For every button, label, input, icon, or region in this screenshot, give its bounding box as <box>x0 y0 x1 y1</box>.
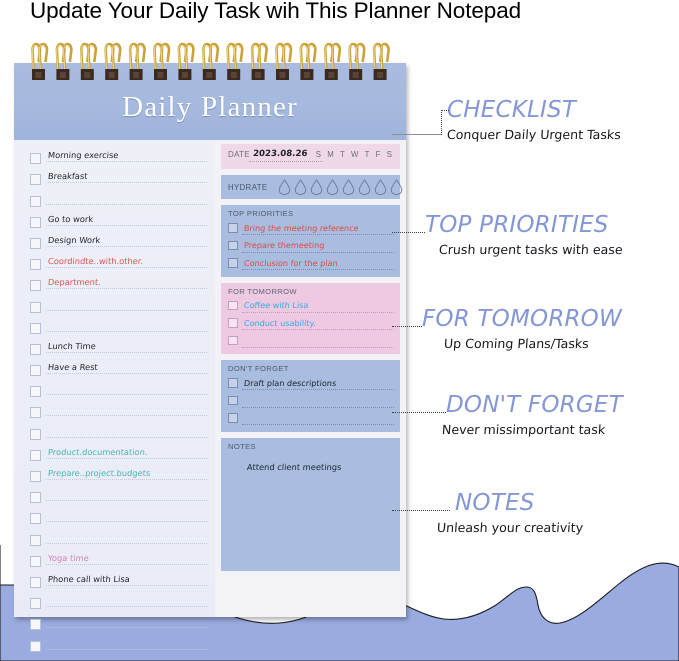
checklist-row-label[interactable]: Phone call with Lisa <box>48 574 131 584</box>
spiral-coil-icon <box>178 44 193 80</box>
checklist-checkbox[interactable] <box>30 450 41 461</box>
leader-line-dont-forget <box>392 412 446 413</box>
annotation-subtitle: Up Coming Plans/Tasks <box>443 336 622 351</box>
water-drop-icon[interactable] <box>326 179 339 195</box>
checklist-column: Morning exerciseBreakfastGo to workDesig… <box>14 140 215 617</box>
leader-line-top-priorities <box>392 232 425 233</box>
checklist-rule <box>46 373 207 374</box>
task-rule <box>242 424 394 425</box>
checklist-row[interactable]: Go to work <box>14 207 215 228</box>
spiral-coil-icon <box>56 44 71 80</box>
checklist-row[interactable]: Prepare..project.budgets <box>14 461 215 482</box>
annotation-title: FOR TOMORROW <box>422 306 622 332</box>
sections-column: DATE 2023.08.26 S M T W T F S HYDRATE TO… <box>215 140 406 617</box>
checklist-rule <box>46 437 207 438</box>
annotation-title: CHECKLIST <box>447 97 621 123</box>
spiral-coil-icon <box>252 44 267 80</box>
checklist-row-label[interactable]: Prepare..project.budgets <box>48 468 151 478</box>
water-drop-icon[interactable] <box>342 179 355 195</box>
poster-canvas: Update Your Daily Task wih This Planner … <box>0 0 679 661</box>
leader-line-for-tomorrow <box>392 326 422 327</box>
task-label[interactable]: Conclusion for the plan <box>244 258 338 268</box>
task-row[interactable]: Conclusion for the plan <box>221 255 400 273</box>
planner-header-title: Daily Planner <box>14 91 406 124</box>
task-rule <box>242 312 394 313</box>
task-row[interactable] <box>221 333 400 351</box>
checklist-checkbox[interactable] <box>30 302 41 313</box>
checklist-checkbox[interactable] <box>30 407 41 418</box>
water-drop-icon[interactable] <box>278 179 291 195</box>
checklist-checkbox[interactable] <box>30 619 41 630</box>
checklist-row[interactable]: Department. <box>14 270 215 291</box>
spiral-coil-icon <box>81 44 96 80</box>
date-label: DATE <box>228 150 250 159</box>
task-checkbox[interactable] <box>228 396 238 406</box>
checklist-checkbox[interactable] <box>30 280 41 291</box>
checklist-rule <box>46 500 207 501</box>
hydrate-section: HYDRATE <box>221 175 400 199</box>
checklist-row[interactable] <box>14 313 215 334</box>
checklist-rule <box>46 267 207 268</box>
checklist-checkbox[interactable] <box>30 577 41 588</box>
annotation-title: NOTES <box>455 490 583 516</box>
checklist-checkbox[interactable] <box>30 429 41 440</box>
checklist-rule <box>46 204 207 205</box>
annotation-subtitle: Crush urgent tasks with ease <box>438 242 623 257</box>
task-label[interactable]: Coffee with Lisa <box>244 300 309 310</box>
annotation-subtitle: Never missimportant task <box>441 422 623 437</box>
checklist-row-label[interactable]: Yoga time <box>48 553 89 563</box>
task-label[interactable]: Bring the meeting reference <box>244 223 359 233</box>
checklist-rule <box>46 627 207 628</box>
annotation-subtitle: Conquer Daily Urgent Tasks <box>446 127 621 142</box>
task-checkbox[interactable] <box>228 413 238 423</box>
checklist-row-label[interactable]: Design Work <box>48 235 101 245</box>
task-row[interactable]: Bring the meeting reference <box>221 220 400 238</box>
leader-line-checklist-vertical <box>441 110 442 135</box>
checklist-row-label[interactable]: Coordindte..with.other. <box>48 256 144 266</box>
task-row[interactable]: Prepare themeeting <box>221 238 400 256</box>
spiral-coil-icon <box>105 44 120 80</box>
checklist-checkbox[interactable] <box>30 196 41 207</box>
checklist-checkbox[interactable] <box>30 535 41 546</box>
top-priorities-rows: Bring the meeting referencePrepare theme… <box>221 220 400 277</box>
checklist-row-label[interactable]: Have a Rest <box>48 362 98 372</box>
checklist-row[interactable] <box>14 609 215 630</box>
checklist-row[interactable] <box>14 482 215 503</box>
annotation-title: DON'T FORGET <box>446 392 623 418</box>
checklist-row[interactable]: Coordindte..with.other. <box>14 249 215 270</box>
leader-line-checklist <box>392 134 442 135</box>
checklist-rule <box>46 458 207 459</box>
checklist-rule <box>46 182 207 183</box>
checklist-checkbox[interactable] <box>30 556 41 567</box>
spiral-coil-icon <box>276 44 291 80</box>
page-title: Update Your Daily Task wih This Planner … <box>30 0 521 24</box>
checklist-rule <box>46 246 207 247</box>
checklist-checkbox[interactable] <box>30 386 41 397</box>
checklist-rule <box>46 161 207 162</box>
checklist-row[interactable]: Design Work <box>14 228 215 249</box>
water-drop-icon[interactable] <box>390 179 403 195</box>
checklist-rule <box>46 225 207 226</box>
annotation-subtitle: Unleash your creativity <box>436 520 583 535</box>
spiral-coil-icon <box>325 44 340 80</box>
checklist-checkbox[interactable] <box>30 259 41 270</box>
annotation-title: TOP PRIORITIES <box>425 212 623 238</box>
checklist-rule <box>46 394 207 395</box>
task-row[interactable] <box>221 410 400 428</box>
checklist-rule <box>46 606 207 607</box>
task-row[interactable]: Draft plan descriptions <box>221 375 400 393</box>
checklist-row[interactable] <box>14 588 215 609</box>
task-rule <box>242 407 394 408</box>
checklist-rule <box>46 649 207 650</box>
date-section: DATE 2023.08.26 S M T W T F S <box>221 144 400 169</box>
task-rule <box>242 329 394 330</box>
checklist-checkbox[interactable] <box>30 641 41 652</box>
checklist-rule <box>46 543 207 544</box>
checklist-row[interactable] <box>14 418 215 439</box>
hydrate-drops[interactable] <box>278 179 403 195</box>
checklist-row[interactable]: Have a Rest <box>14 355 215 376</box>
dont-forget-label: DON'T FORGET <box>221 360 400 375</box>
checklist-row[interactable]: Morning exercise <box>14 143 215 164</box>
notes-text[interactable]: Attend client meetings <box>247 462 342 472</box>
task-row[interactable]: Conduct usability. <box>221 315 400 333</box>
spiral-binding-icon <box>14 36 406 82</box>
checklist-row-label[interactable]: Department. <box>48 277 102 287</box>
checklist-checkbox[interactable] <box>30 365 41 376</box>
annotation-for-tomorrow: FOR TOMORROW Up Coming Plans/Tasks <box>422 306 622 351</box>
leader-line-checklist-elbow <box>441 110 449 111</box>
checklist-rule <box>46 479 207 480</box>
date-value[interactable]: 2023.08.26 <box>253 149 308 159</box>
dont-forget-section: DON'T FORGET Draft plan descriptions <box>221 360 400 432</box>
checklist-rule <box>46 288 207 289</box>
for-tomorrow-label: FOR TOMORROW <box>221 283 400 298</box>
checklist-row-label[interactable]: Breakfast <box>48 171 88 181</box>
checklist-row[interactable]: Phone call with Lisa <box>14 567 215 588</box>
checklist-rule <box>46 415 207 416</box>
checklist-row[interactable] <box>14 185 215 206</box>
spiral-coil-icon <box>203 44 218 80</box>
checklist-row[interactable]: Yoga time <box>14 546 215 567</box>
checklist-rule <box>46 585 207 586</box>
notes-label: NOTES <box>221 438 400 453</box>
dont-forget-rows: Draft plan descriptions <box>221 375 400 432</box>
task-row[interactable]: Coffee with Lisa <box>221 298 400 316</box>
checklist-row[interactable] <box>14 503 215 524</box>
date-underline <box>249 161 323 162</box>
checklist-rule <box>46 564 207 565</box>
checklist-checkbox[interactable] <box>30 513 41 524</box>
task-rule <box>242 389 394 390</box>
notes-section[interactable]: NOTES Attend client meetings <box>221 438 400 571</box>
for-tomorrow-rows: Coffee with LisaConduct usability. <box>221 298 400 355</box>
water-drop-icon[interactable] <box>358 179 371 195</box>
checklist-checkbox[interactable] <box>30 238 41 249</box>
for-tomorrow-section: FOR TOMORROW Coffee with LisaConduct usa… <box>221 283 400 355</box>
annotation-top-priorities: TOP PRIORITIES Crush urgent tasks with e… <box>425 212 623 257</box>
checklist-rule <box>46 521 207 522</box>
spiral-coil-icon <box>130 44 145 80</box>
annotation-checklist: CHECKLIST Conquer Daily Urgent Tasks <box>447 97 621 142</box>
checklist-checkbox[interactable] <box>30 344 41 355</box>
spiral-coil-icon <box>349 44 364 80</box>
checklist-checkbox[interactable] <box>30 323 41 334</box>
checklist-row-label[interactable]: Lunch Time <box>48 341 96 351</box>
spiral-coil-icon <box>374 44 389 80</box>
task-checkbox[interactable] <box>228 258 238 268</box>
checklist-rule <box>46 310 207 311</box>
task-label[interactable]: Prepare themeeting <box>244 240 325 250</box>
task-rule <box>242 347 394 348</box>
task-label[interactable]: Draft plan descriptions <box>244 378 337 388</box>
weekday-letters[interactable]: S M T W T F S <box>316 150 394 159</box>
checklist-checkbox[interactable] <box>30 217 41 228</box>
task-row[interactable] <box>221 393 400 411</box>
checklist-checkbox[interactable] <box>30 598 41 609</box>
task-label[interactable]: Conduct usability. <box>244 318 316 328</box>
checklist-rule <box>46 352 207 353</box>
checklist-row[interactable] <box>14 376 215 397</box>
checklist-row[interactable]: Product.documentation. <box>14 440 215 461</box>
task-checkbox[interactable] <box>228 223 238 233</box>
checklist-row-label[interactable]: Go to work <box>48 214 94 224</box>
checklist-row[interactable] <box>14 291 215 312</box>
checklist-row[interactable]: Lunch Time <box>14 334 215 355</box>
annotation-notes: NOTES Unleash your creativity <box>455 490 583 535</box>
task-checkbox[interactable] <box>228 378 238 388</box>
spiral-coil-icon <box>154 44 169 80</box>
planner-notepad: Daily Planner Morning exerciseBreakfastG… <box>14 63 406 617</box>
top-priorities-label: TOP PRIORITIES <box>221 205 400 220</box>
checklist-row-label[interactable]: Morning exercise <box>48 150 119 160</box>
annotation-dont-forget: DON'T FORGET Never missimportant task <box>446 392 623 437</box>
task-rule <box>242 234 394 235</box>
checklist-rule <box>46 331 207 332</box>
water-drop-icon[interactable] <box>294 179 307 195</box>
task-rule <box>242 269 394 270</box>
task-checkbox[interactable] <box>228 318 238 328</box>
water-drop-icon[interactable] <box>374 179 387 195</box>
water-drop-icon[interactable] <box>310 179 323 195</box>
checklist-row[interactable]: Breakfast <box>14 164 215 185</box>
leader-line-notes <box>392 510 450 511</box>
checklist-checkbox[interactable] <box>30 471 41 482</box>
task-checkbox[interactable] <box>228 301 238 311</box>
task-checkbox[interactable] <box>228 336 238 346</box>
checklist-row[interactable] <box>14 524 215 545</box>
spiral-coil-icon <box>300 44 315 80</box>
checklist-row[interactable] <box>14 397 215 418</box>
task-rule <box>242 252 394 253</box>
task-checkbox[interactable] <box>228 241 238 251</box>
spiral-coil-icon <box>32 44 47 80</box>
hydrate-label: HYDRATE <box>228 183 267 192</box>
checklist-row[interactable] <box>14 630 215 651</box>
top-priorities-section: TOP PRIORITIES Bring the meeting referen… <box>221 205 400 277</box>
checklist-checkbox[interactable] <box>30 492 41 503</box>
spiral-coil-icon <box>227 44 242 80</box>
checklist-row-label[interactable]: Product.documentation. <box>48 447 148 457</box>
checklist-checkbox[interactable] <box>30 153 41 164</box>
checklist-checkbox[interactable] <box>30 174 41 185</box>
